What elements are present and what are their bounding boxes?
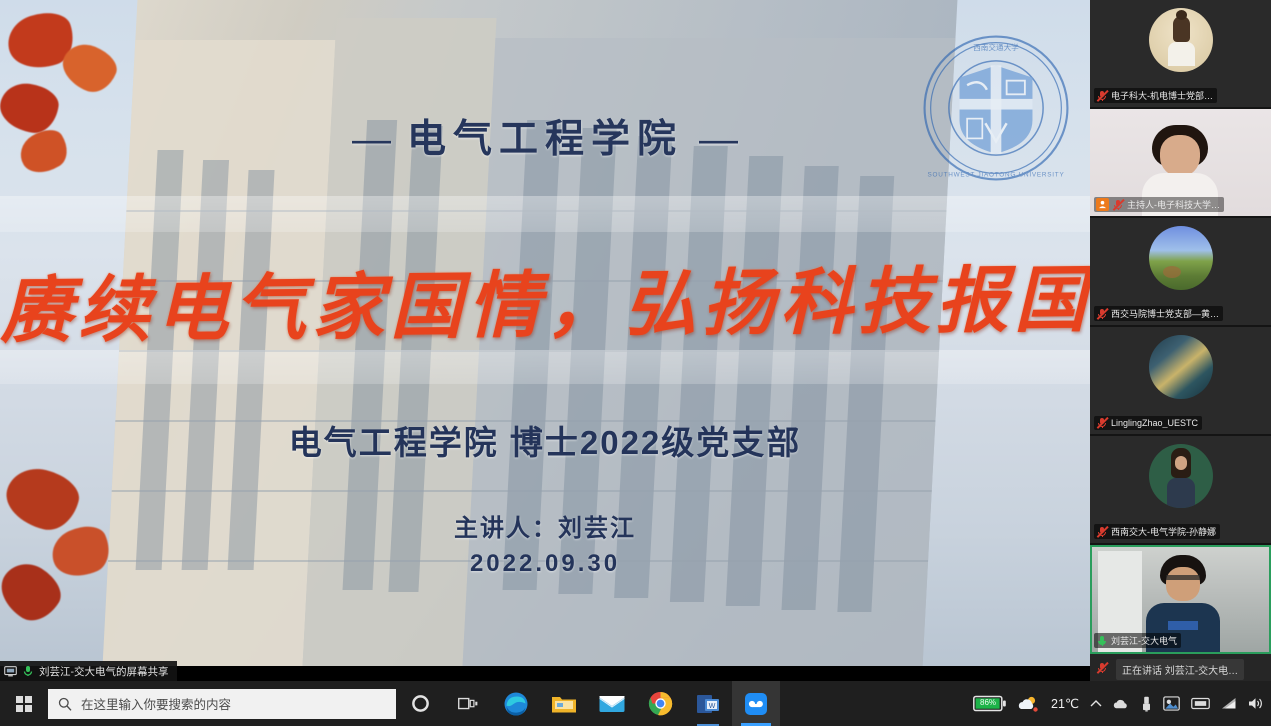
participant-namebar: 电子科大-机电博士党部… (1094, 88, 1217, 103)
screenshot-icon[interactable] (1163, 696, 1180, 711)
slide-subtitle: 电气工程学院 博士2022级党支部 (0, 416, 1090, 464)
mic-muted-icon (1112, 199, 1124, 211)
participant-namebar: 西交马院博士党支部—黄… (1094, 306, 1223, 321)
title-band-upper (0, 196, 1090, 232)
tencent-meeting-icon (744, 692, 768, 716)
avatar (1149, 226, 1213, 290)
shared-screen-area: 西南交通大学 SOUTHWEST JIAOTONG UNIVERSITY —电气… (0, 0, 1090, 666)
title-band-lower (0, 350, 1090, 384)
participant-tile[interactable]: 西交马院博士党支部—黄… (1090, 218, 1271, 327)
usb-icon[interactable] (1141, 696, 1152, 712)
participant-namebar: 西南交大-电气学院-孙静娜 (1094, 524, 1220, 539)
word-button[interactable]: W (684, 681, 732, 726)
participant-namebar: 主持人-电子科技大学… (1094, 197, 1224, 212)
system-tray[interactable]: 86% 21℃ (973, 681, 1271, 726)
cortana-icon (411, 694, 430, 713)
chrome-button[interactable] (636, 681, 684, 726)
participant-tile[interactable]: LinglingZhao_UESTC (1090, 327, 1271, 436)
participant-namebar: LinglingZhao_UESTC (1094, 416, 1202, 430)
svg-text:SOUTHWEST JIAOTONG UNIVERSITY: SOUTHWEST JIAOTONG UNIVERSITY (928, 171, 1065, 178)
file-explorer-button[interactable] (540, 681, 588, 726)
volume-icon[interactable] (1248, 697, 1263, 710)
avatar (1149, 8, 1213, 72)
task-view-button[interactable] (444, 681, 492, 726)
mic-muted-icon (1096, 417, 1108, 429)
network-icon[interactable] (1221, 697, 1237, 710)
participant-name: 西南交大-电气学院-孙静娜 (1111, 525, 1216, 538)
keyboard-icon[interactable] (1191, 697, 1210, 710)
task-view-icon (458, 696, 478, 712)
avatar (1149, 335, 1213, 399)
word-icon: W (696, 692, 720, 716)
participant-tile-speaking[interactable]: 刘芸江-交大电气 (1090, 545, 1271, 654)
sun-cloud-icon (1018, 695, 1040, 713)
slide-header: —电气工程学院— (0, 108, 1090, 164)
participant-name: 刘芸江-交大电气 (1111, 634, 1177, 647)
weather-temperature: 21℃ (1051, 696, 1079, 711)
mic-green-icon (22, 665, 34, 677)
speaking-status-bar: 正在讲话 刘芸江-交大电… (1090, 654, 1271, 684)
participant-namebar: 刘芸江-交大电气 (1094, 633, 1181, 648)
edge-button[interactable] (492, 681, 540, 726)
svg-text:W: W (709, 703, 716, 710)
search-input[interactable]: 在这里输入你要搜索的内容 (48, 689, 396, 719)
mail-icon (599, 694, 625, 714)
share-banner-text: 刘芸江-交大电气的屏幕共享 (39, 664, 169, 679)
monitor-icon (4, 666, 17, 677)
header-title-text: 电气工程学院 (407, 118, 683, 161)
mic-muted-icon (1096, 90, 1108, 102)
mic-muted-icon (1096, 308, 1108, 320)
header-dash-right: — (683, 118, 754, 161)
mic-muted-icon (1096, 662, 1110, 676)
cortana-button[interactable] (396, 681, 444, 726)
start-button[interactable] (0, 681, 48, 726)
chevron-up-icon[interactable] (1090, 699, 1102, 709)
battery-percent: 86% (976, 698, 1000, 707)
mic-muted-icon (1096, 526, 1108, 538)
battery-icon[interactable]: 86% (973, 695, 1007, 712)
mail-button[interactable] (588, 681, 636, 726)
tencent-meeting-button[interactable] (732, 681, 780, 726)
participant-tile[interactable]: 西南交大-电气学院-孙静娜 (1090, 436, 1271, 545)
participant-name: 西交马院博士党支部—黄… (1111, 307, 1219, 320)
host-badge-icon (1096, 198, 1109, 211)
mic-on-icon (1096, 635, 1108, 647)
participant-tile[interactable]: 主持人-电子科技大学… (1090, 109, 1271, 218)
participant-sidebar[interactable]: 电子科大-机电博士党部… 主持人-电子科技大学… 西交马院博士党支 (1090, 0, 1271, 726)
participant-name: 主持人-电子科技大学… (1127, 198, 1220, 211)
windows-taskbar[interactable]: 在这里输入你要搜索的内容 (0, 681, 1271, 726)
svg-text:西南交通大学: 西南交通大学 (973, 42, 1019, 52)
participant-name: LinglingZhao_UESTC (1111, 418, 1198, 428)
participant-name: 电子科大-机电博士党部… (1111, 89, 1213, 102)
search-icon (58, 697, 72, 711)
header-dash-left: — (336, 118, 407, 161)
screen-share-banner: 刘芸江-交大电气的屏幕共享 (0, 661, 177, 681)
desktop-root: 西南交通大学 SOUTHWEST JIAOTONG UNIVERSITY —电气… (0, 0, 1271, 726)
slide-main-title: 赓续电气家国情，弘扬科技报国心 (0, 240, 1090, 356)
slide-speaker-line: 主讲人：刘芸江 (0, 508, 1090, 543)
slide-date-line: 2022.09.30 (0, 550, 1090, 578)
avatar (1149, 444, 1213, 508)
search-placeholder: 在这里输入你要搜索的内容 (81, 694, 231, 713)
folder-icon (551, 693, 577, 715)
onedrive-icon[interactable] (1113, 697, 1130, 710)
edge-icon (503, 691, 529, 717)
participant-tile[interactable]: 电子科大-机电博士党部… (1090, 0, 1271, 109)
chrome-icon (648, 691, 673, 716)
speaking-status-text: 正在讲话 刘芸江-交大电… (1116, 659, 1244, 680)
